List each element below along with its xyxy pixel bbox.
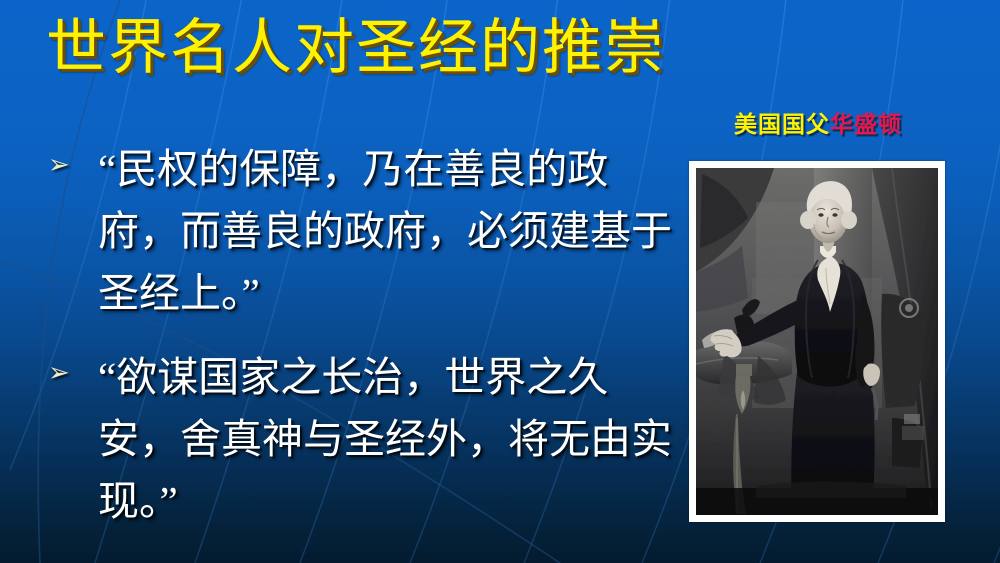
quote-text: “欲谋国家之长治，世界之久安，舍真神与圣经外，将无由实现。” [98, 354, 672, 524]
presentation-slide: 世界名人对圣经的推崇 ➢ “民权的保障，乃在善良的政府，而善良的政府，必须建基于… [0, 0, 1000, 563]
list-item: ➢ “欲谋国家之长治，世界之久安，舍真神与圣经外，将无由实现。” [40, 346, 680, 532]
caption-name: 华盛顿 [830, 111, 902, 137]
quote-text: “民权的保障，乃在善良的政府，而善良的政府，必须建基于圣经上。” [98, 146, 672, 316]
portrait-caption: 美国国父华盛顿 [690, 110, 946, 138]
list-item: ➢ “民权的保障，乃在善良的政府，而善良的政府，必须建基于圣经上。” [40, 138, 680, 324]
page-title: 世界名人对圣经的推崇 [46, 12, 666, 84]
arrow-bullet-icon: ➢ [48, 360, 82, 386]
portrait-frame [689, 161, 945, 522]
arrow-bullet-icon: ➢ [48, 152, 82, 178]
washington-portrait-image [696, 168, 938, 515]
bullet-list: ➢ “民权的保障，乃在善良的政府，而善良的政府，必须建基于圣经上。” ➢ “欲谋… [40, 138, 680, 554]
caption-prefix: 美国国父 [734, 111, 830, 137]
